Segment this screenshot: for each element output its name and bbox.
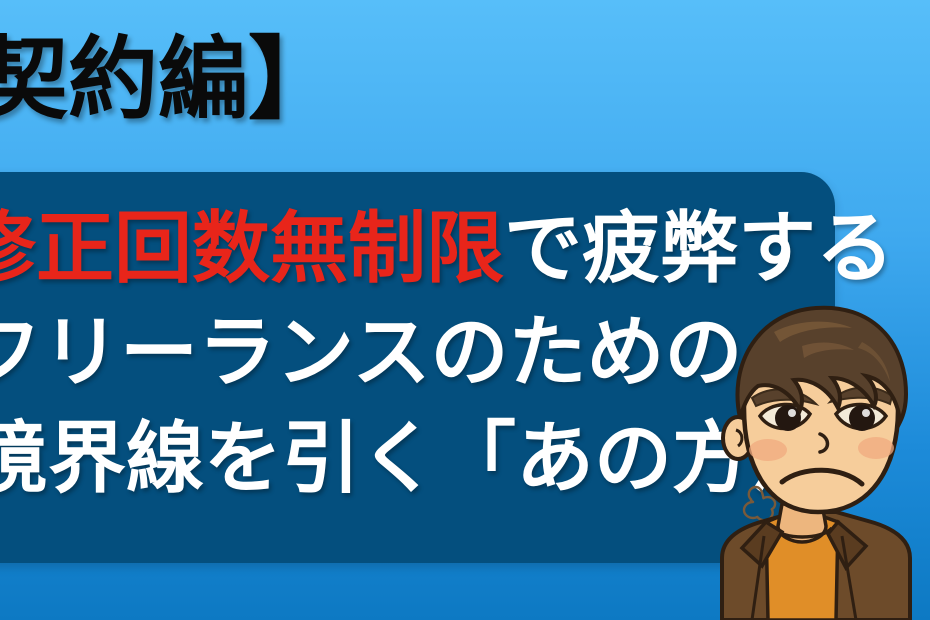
headline-card: 修正回数無制限で疲弊する フリーランスのための 境界線を引く「あの方法」 <box>0 172 835 563</box>
anger-steam-puff-icon <box>735 472 791 528</box>
thumbnail-canvas: 契約編】 修正回数無制限で疲弊する フリーランスのための 境界線を引く「あの方法… <box>0 0 930 620</box>
headline-line-1-rest: で疲弊する <box>504 204 894 294</box>
kicker-title: 契約編】 <box>0 22 538 138</box>
headline-line-1: 修正回数無制限で疲弊する <box>0 210 894 288</box>
headline-line-2: フリーランスのための <box>0 314 742 392</box>
headline-line-2-rest: フリーランスのための <box>0 308 742 398</box>
headline-text-block: 修正回数無制限で疲弊する フリーランスのための 境界線を引く「あの方法」 <box>0 172 835 563</box>
headline-highlight-text: 修正回数無制限 <box>0 204 504 294</box>
